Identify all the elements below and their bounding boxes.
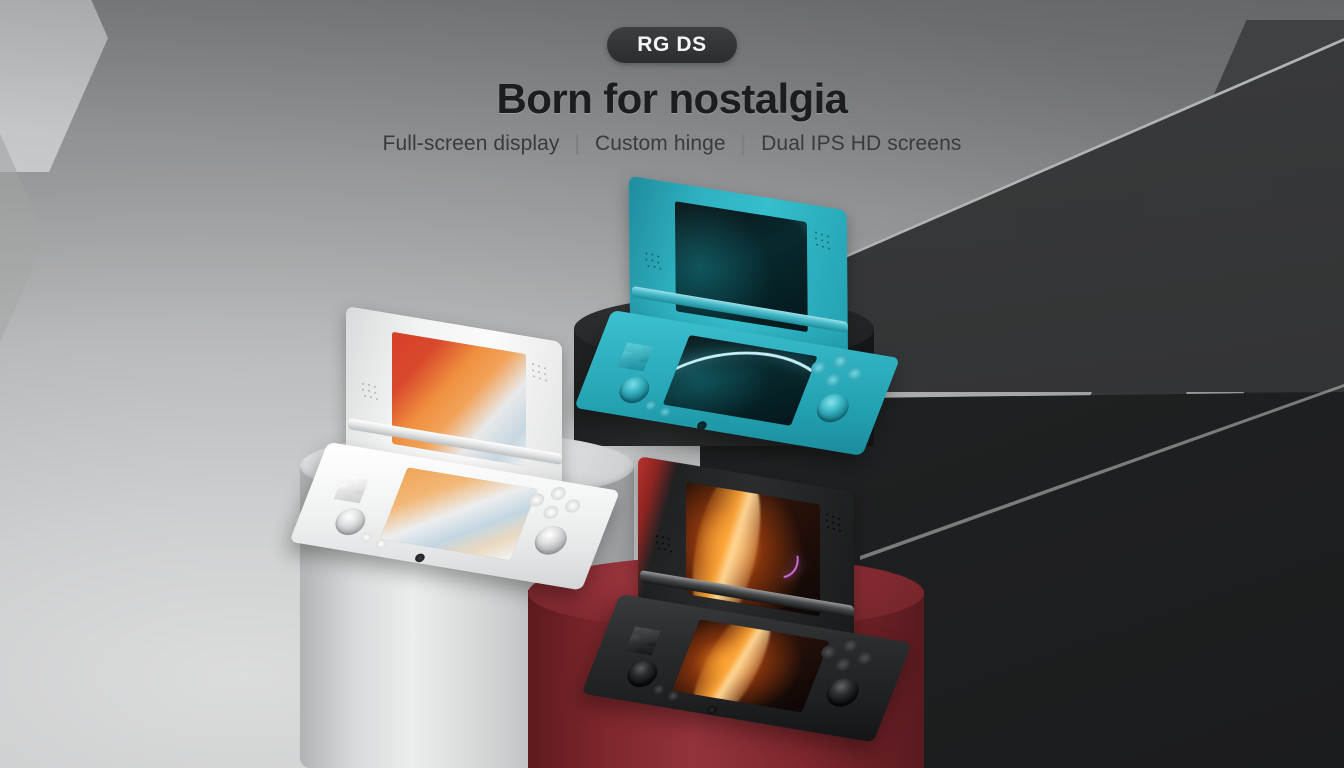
- speaker-grille: [815, 231, 837, 257]
- page-title: Born for nostalgia: [0, 77, 1344, 122]
- wallpaper-warm-gradient: [380, 467, 538, 560]
- d-pad[interactable]: [334, 475, 369, 504]
- button-a[interactable]: [563, 498, 582, 513]
- button-x[interactable]: [831, 353, 850, 368]
- feature-item-1: Full-screen display: [383, 132, 560, 155]
- headphone-jack: [414, 553, 426, 563]
- button-b[interactable]: [823, 372, 842, 387]
- product-hero-banner: RG DS Born for nostalgia Full-screen dis…: [0, 0, 1344, 768]
- analog-stick[interactable]: [530, 524, 571, 557]
- header-block: RG DS Born for nostalgia Full-screen dis…: [0, 0, 1344, 156]
- feature-separator: |: [741, 132, 747, 155]
- analog-stick[interactable]: [812, 391, 853, 424]
- button-b[interactable]: [541, 505, 560, 520]
- feature-item-3: Dual IPS HD screens: [761, 132, 961, 155]
- speaker-grille: [532, 363, 554, 389]
- wallpaper-flame-shape: [676, 619, 786, 712]
- device-teal-bottom-screen: [663, 335, 818, 426]
- device-black-red[interactable]: [620, 456, 930, 706]
- button-start[interactable]: [652, 684, 666, 695]
- button-start[interactable]: [644, 400, 658, 411]
- analog-stick[interactable]: [822, 676, 863, 709]
- button-b[interactable]: [833, 657, 852, 672]
- speaker-grille: [656, 535, 678, 561]
- button-start[interactable]: [360, 532, 374, 543]
- headphone-jack: [706, 705, 718, 715]
- button-a[interactable]: [855, 650, 874, 665]
- device-teal[interactable]: [612, 176, 912, 424]
- speaker-grille: [362, 383, 384, 409]
- wallpaper-fire: [672, 619, 830, 712]
- device-black-red-bottom-screen: [672, 619, 830, 712]
- button-x[interactable]: [841, 638, 860, 653]
- device-white-bottom-screen: [380, 467, 538, 560]
- device-white[interactable]: [328, 306, 638, 556]
- product-badge: RG DS: [607, 27, 737, 63]
- d-pad[interactable]: [626, 627, 661, 656]
- speaker-grille: [645, 252, 667, 278]
- wallpaper-arc-shape: [663, 346, 818, 426]
- feature-item-2: Custom hinge: [595, 132, 726, 155]
- feature-separator: |: [574, 132, 580, 155]
- wallpaper-spark-shape: [758, 534, 806, 586]
- button-select[interactable]: [666, 690, 680, 701]
- button-a[interactable]: [845, 366, 864, 381]
- wallpaper-teal-arc: [663, 335, 818, 426]
- button-x[interactable]: [549, 486, 568, 501]
- button-select[interactable]: [658, 406, 672, 417]
- button-select[interactable]: [374, 538, 388, 549]
- feature-list: Full-screen display | Custom hinge | Dua…: [0, 132, 1344, 156]
- speaker-grille: [826, 513, 848, 539]
